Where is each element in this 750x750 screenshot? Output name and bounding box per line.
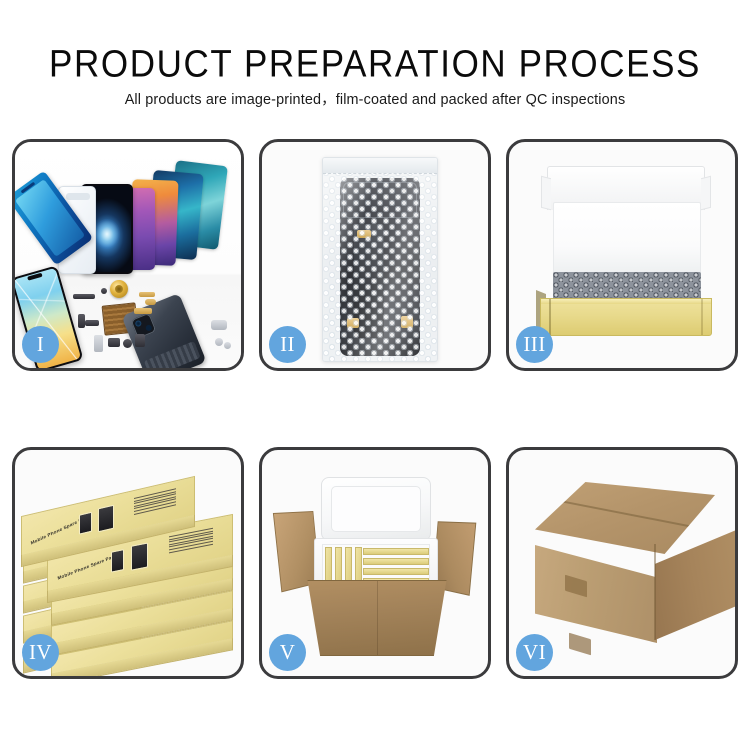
spare-part-button xyxy=(123,339,132,348)
packed-box-horizontal xyxy=(363,568,429,575)
step-badge-2: II xyxy=(269,326,306,363)
bag-seal xyxy=(323,158,437,174)
styrofoam-lid-icon xyxy=(321,477,431,541)
spare-part-connector xyxy=(139,292,155,297)
box-art-phone-right xyxy=(98,505,114,533)
step-badge-6: VI xyxy=(516,634,553,671)
process-step-1[interactable]: I xyxy=(12,139,244,371)
spare-part-washer xyxy=(224,342,231,349)
box-art-phone-right xyxy=(131,542,148,570)
process-step-5[interactable]: V xyxy=(259,447,491,679)
spare-part-motor xyxy=(135,334,145,347)
carton-top-seam xyxy=(535,482,715,554)
process-step-2[interactable]: II xyxy=(259,139,491,371)
process-step-grid: I II xyxy=(12,139,738,679)
process-step-4[interactable]: Mobile Phone Spare Parts Mobile Phone Sp… xyxy=(12,447,244,679)
spare-part-sim-tray xyxy=(94,335,103,352)
spare-part-rail xyxy=(85,320,99,326)
spare-part-buzzer xyxy=(108,338,120,347)
page-title: PRODUCT PREPARATION PROCESS xyxy=(0,43,750,86)
outer-carton-body xyxy=(298,580,456,656)
spare-part-flex-cable xyxy=(134,308,152,314)
carton-vertical-edge xyxy=(654,544,656,640)
wallpaper-swirl xyxy=(94,219,120,249)
plastic-sheen xyxy=(323,158,437,361)
spare-part-screw xyxy=(215,338,223,346)
carton-seam xyxy=(377,581,378,655)
packed-box-horizontal xyxy=(363,558,429,565)
packed-box-horizontal xyxy=(363,548,429,555)
lid-inset xyxy=(331,486,421,532)
step-badge-3: III xyxy=(516,326,553,363)
step-badge-4: IV xyxy=(22,634,59,671)
process-step-3[interactable]: III xyxy=(506,139,738,371)
white-foam-sheet xyxy=(553,202,701,274)
box-art-phone-left xyxy=(79,512,92,535)
housing-band xyxy=(144,341,201,368)
product-preparation-infographic: PRODUCT PREPARATION PROCESS All products… xyxy=(0,0,750,750)
bubble-wrap-bag-icon xyxy=(322,157,438,362)
carton-left-face xyxy=(535,545,657,643)
speaker-coil-icon xyxy=(110,280,128,298)
box-seam-right xyxy=(701,299,703,335)
spare-part-strip xyxy=(73,294,95,299)
step-badge-1: I xyxy=(22,326,59,363)
spare-part-gold-clip xyxy=(145,299,156,305)
spare-part-bracket xyxy=(78,314,85,328)
box-seam-left xyxy=(549,299,551,335)
box-art-phone-left xyxy=(111,549,124,573)
step-badge-5: V xyxy=(269,634,306,671)
spare-part-gasket xyxy=(101,288,107,294)
page-subtitle: All products are image-printed，film-coat… xyxy=(0,88,750,109)
box-front-lip xyxy=(541,299,711,304)
kraft-box-front xyxy=(540,298,712,336)
spare-part-tweezers xyxy=(211,320,227,330)
grey-bubble-wrap-contents xyxy=(553,272,701,300)
process-step-6[interactable]: VI xyxy=(506,447,738,679)
carton-tape-lower xyxy=(569,633,591,656)
